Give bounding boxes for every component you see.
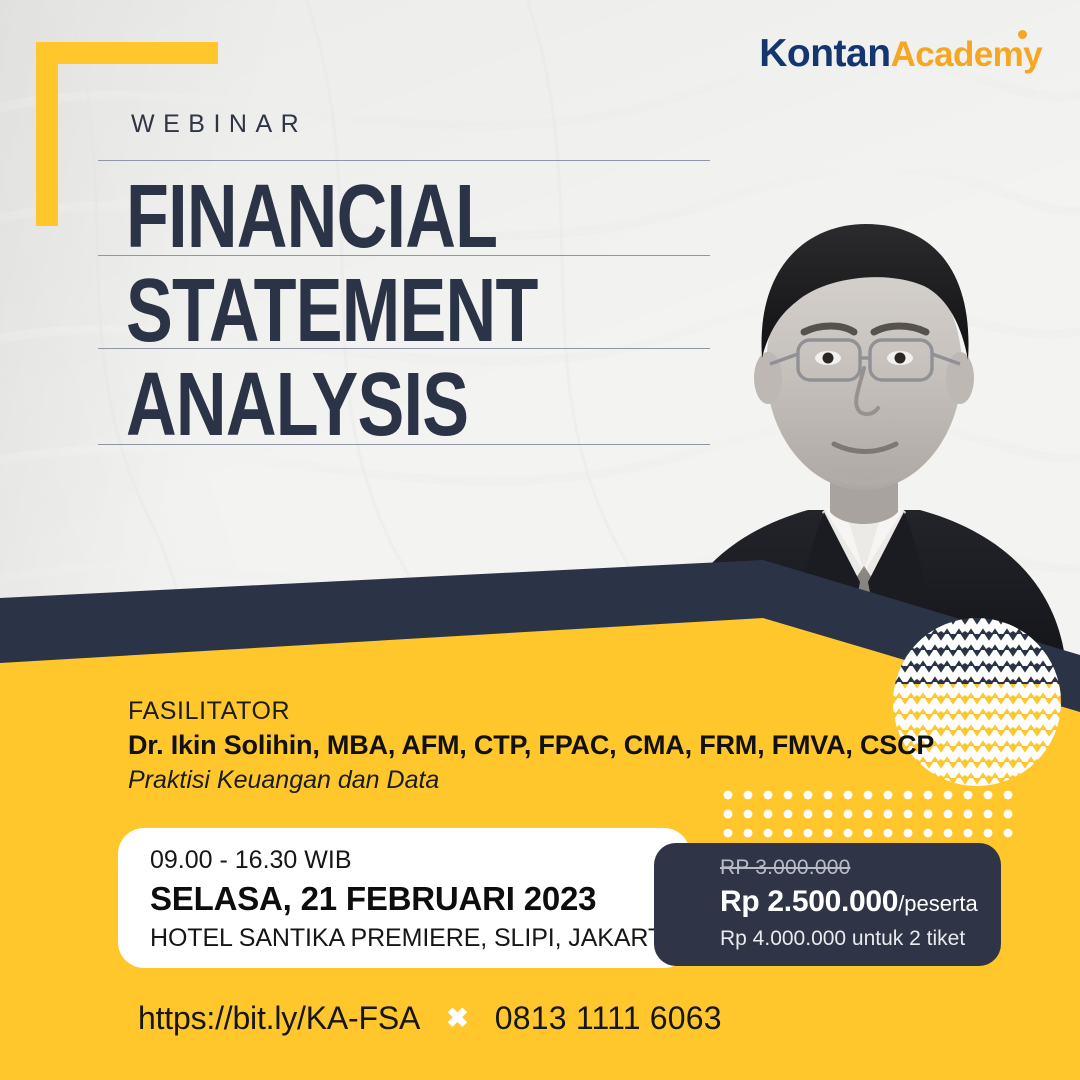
facilitator-role: Praktisi Keuangan dan Data (128, 766, 439, 795)
title-rule-2 (98, 255, 710, 256)
footer-contact-bar: https://bit.ly/KA-FSA ✖ 0813 1111 6063 (138, 1000, 722, 1037)
price-card: RP 3.000.000 Rp 2.500.000 /peserta Rp 4.… (654, 843, 1001, 966)
webinar-poster: Kontan Academy (0, 0, 1080, 1080)
logo-academy-text: Academy (891, 35, 1042, 75)
registration-link[interactable]: https://bit.ly/KA-FSA (138, 1000, 420, 1037)
schedule-venue: HOTEL SANTIKA PREMIERE, SLIPI, JAKARTA (150, 924, 678, 953)
cross-separator-icon: ✖ (446, 1005, 469, 1032)
title-line-statement: STATEMENT (126, 266, 538, 356)
facilitator-name: Dr. Ikin Solihin, MBA, AFM, CTP, FPAC, C… (128, 730, 934, 761)
price-per-unit: /peserta (898, 891, 978, 917)
schedule-date: SELASA, 21 FEBRUARI 2023 (150, 880, 596, 918)
title-rule-3 (98, 348, 710, 349)
title-line-financial: FINANCIAL (126, 172, 497, 262)
logo-dot-accent (1018, 30, 1027, 39)
kicker-webinar: WEBINAR (131, 110, 307, 139)
schedule-time: 09.00 - 16.30 WIB (150, 846, 352, 875)
price-discounted: Rp 2.500.000 (720, 885, 898, 919)
title-line-analysis: ANALYSIS (126, 360, 468, 450)
kontan-academy-logo: Kontan Academy (759, 32, 1042, 76)
price-current-row: Rp 2.500.000 /peserta (720, 885, 978, 919)
logo-kontan-text: Kontan (759, 32, 890, 76)
contact-phone[interactable]: 0813 1111 6063 (495, 1000, 722, 1037)
facilitator-label: FASILITATOR (128, 697, 290, 726)
schedule-card: 09.00 - 16.30 WIB SELASA, 21 FEBRUARI 20… (118, 828, 690, 968)
dot-grid-decoration (723, 790, 1023, 846)
title-rule-4 (98, 444, 710, 445)
title-rule-1 (98, 160, 710, 161)
price-bundle-note: Rp 4.000.000 untuk 2 tiket (720, 927, 965, 951)
price-original: RP 3.000.000 (720, 856, 850, 880)
